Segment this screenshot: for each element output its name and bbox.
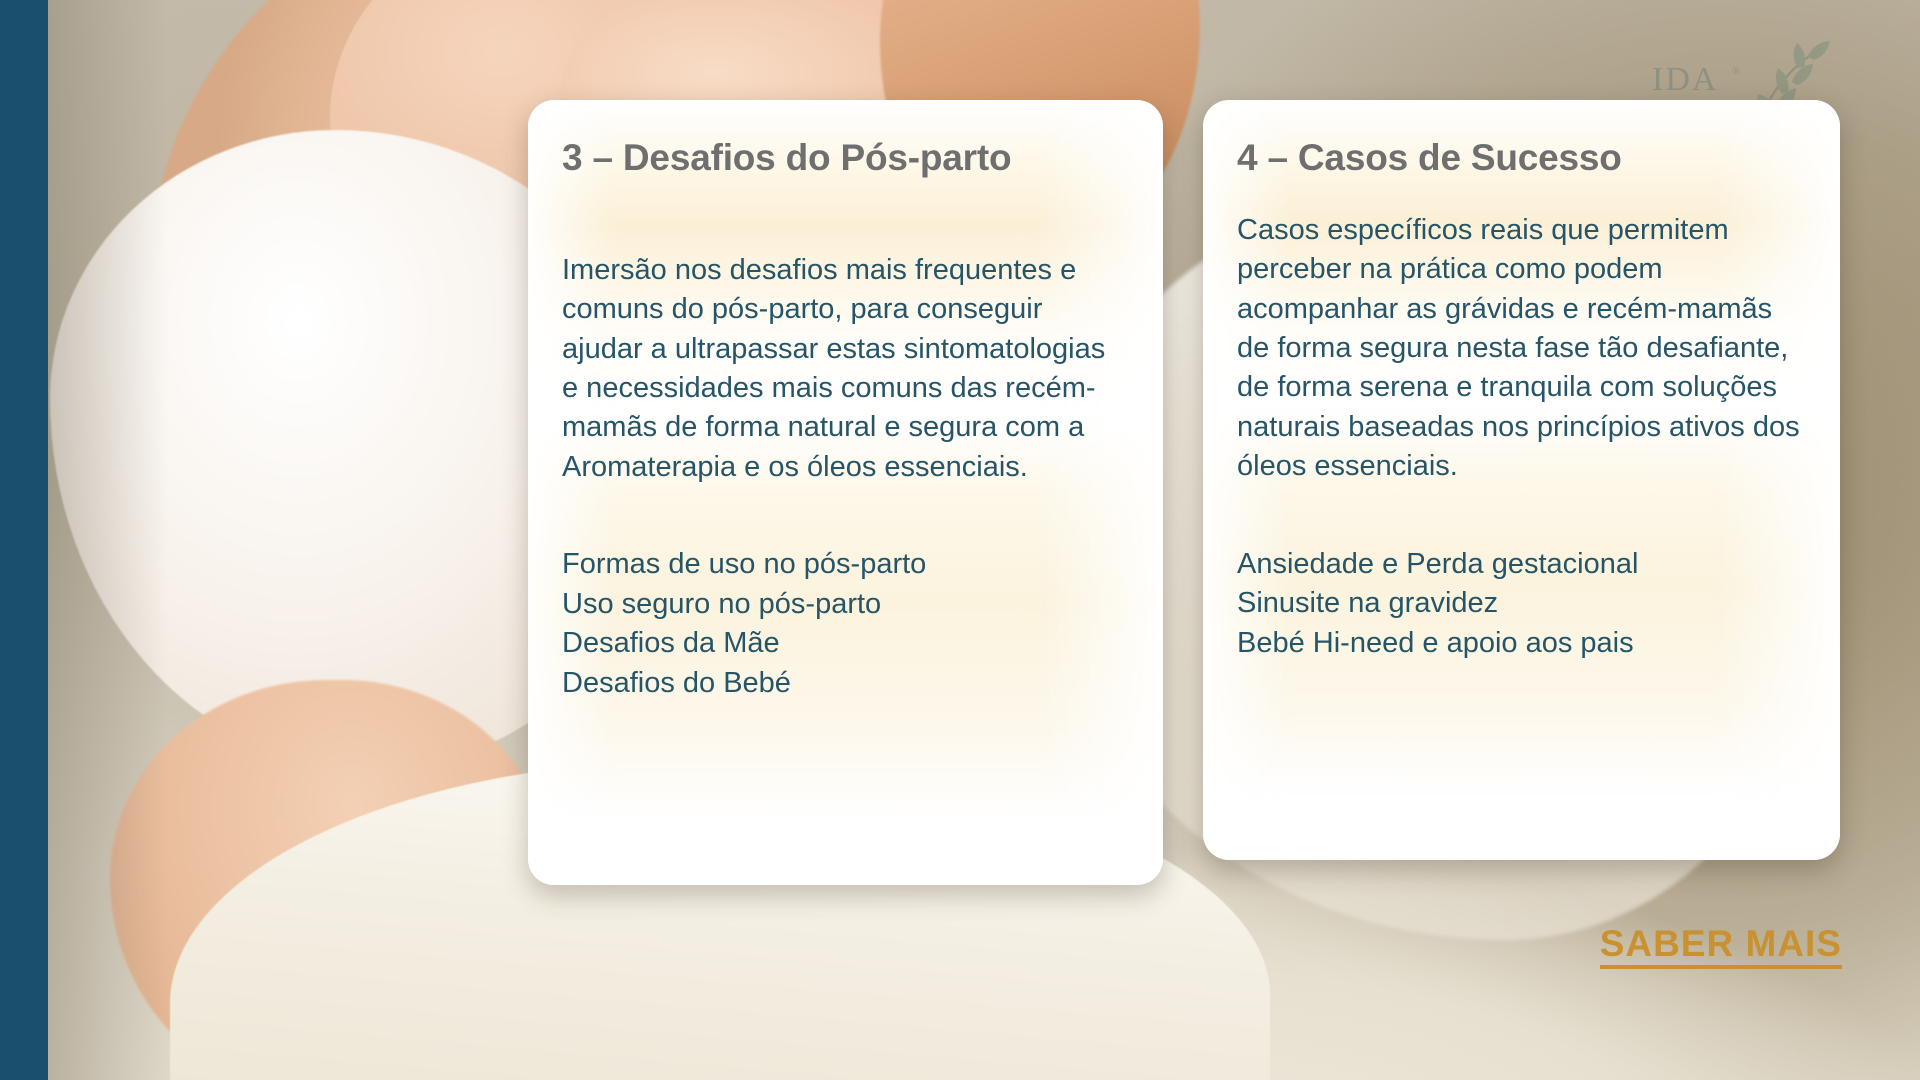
card-topic-list: Ansiedade e Perda gestacional Sinusite n… <box>1237 545 1806 663</box>
content-card-success-cases: 4 – Casos de Sucesso Casos específicos r… <box>1203 100 1840 860</box>
list-item: Formas de uso no pós-parto <box>562 545 1129 584</box>
slide-root: IDA ® 3 – Desafios do Pós-parto Imersão … <box>0 0 1920 1080</box>
list-item: Desafios da Mãe <box>562 624 1129 663</box>
photo-left-shadow <box>48 0 168 1080</box>
card-paragraph: Imersão nos desafios mais frequentes e c… <box>562 251 1129 488</box>
card-topic-list: Formas de uso no pós-parto Uso seguro no… <box>562 545 1129 703</box>
list-item: Bebé Hi-need e apoio aos pais <box>1237 624 1806 663</box>
content-card-challenges: 3 – Desafios do Pós-parto Imersão nos de… <box>528 100 1163 885</box>
card-title: 4 – Casos de Sucesso <box>1237 138 1806 179</box>
card-paragraph: Casos específicos reais que permitem per… <box>1237 211 1806 487</box>
saber-mais-link[interactable]: SABER MAIS <box>1600 925 1842 969</box>
list-item: Desafios do Bebé <box>562 664 1129 703</box>
list-item: Sinusite na gravidez <box>1237 584 1806 623</box>
card-title: 3 – Desafios do Pós-parto <box>562 138 1129 179</box>
list-item: Uso seguro no pós-parto <box>562 585 1129 624</box>
list-item: Ansiedade e Perda gestacional <box>1237 545 1806 584</box>
left-accent-bar <box>0 0 48 1080</box>
